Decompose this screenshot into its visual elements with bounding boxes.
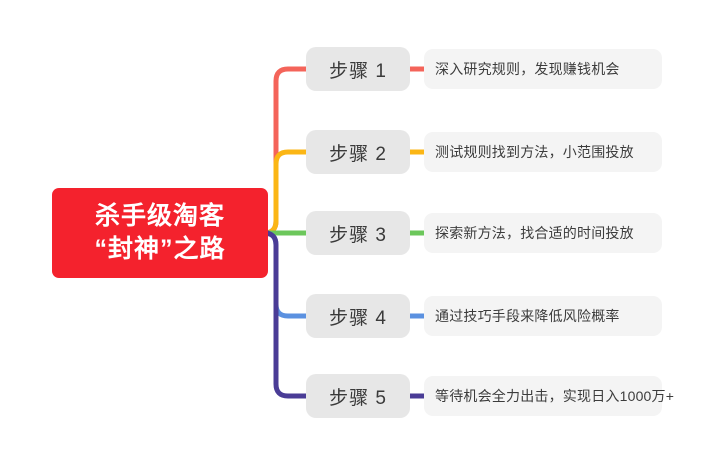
description-text: 等待机会全力出击，实现日入1000万+ <box>435 386 674 406</box>
mindmap-canvas: 杀手级淘客 “封神”之路 步骤 1深入研究规则，发现赚钱机会步骤 2测试规则找到… <box>0 0 721 470</box>
description-panel-4[interactable]: 通过技巧手段来降低风险概率 <box>424 296 662 336</box>
root-title-line-1: 杀手级淘客 <box>95 200 225 233</box>
step-chip-5[interactable]: 步骤 5 <box>306 374 410 418</box>
branch-row: 步骤 5 <box>306 374 410 418</box>
step-chip-2[interactable]: 步骤 2 <box>306 130 410 174</box>
step-chip-4[interactable]: 步骤 4 <box>306 294 410 338</box>
step-chip-3[interactable]: 步骤 3 <box>306 211 410 255</box>
description-text: 通过技巧手段来降低风险概率 <box>435 306 620 326</box>
step-chip-label: 步骤 5 <box>329 383 387 410</box>
description-panel-1[interactable]: 深入研究规则，发现赚钱机会 <box>424 49 662 89</box>
root-node[interactable]: 杀手级淘客 “封神”之路 <box>52 188 268 278</box>
description-text: 测试规则找到方法，小范围投放 <box>435 142 634 162</box>
connector-root-to-step-4 <box>264 233 306 316</box>
branch-row: 步骤 2 <box>306 130 410 174</box>
step-chip-label: 步骤 1 <box>329 56 387 83</box>
description-panel-2[interactable]: 测试规则找到方法，小范围投放 <box>424 132 662 172</box>
step-chip-1[interactable]: 步骤 1 <box>306 47 410 91</box>
step-chip-label: 步骤 2 <box>329 139 387 166</box>
root-title-line-2: “封神”之路 <box>94 233 225 266</box>
description-panel-3[interactable]: 探索新方法，找合适的时间投放 <box>424 213 662 253</box>
branch-row: 步骤 4 <box>306 294 410 338</box>
step-chip-label: 步骤 4 <box>329 303 387 330</box>
branch-row: 步骤 1 <box>306 47 410 91</box>
description-panel-5[interactable]: 等待机会全力出击，实现日入1000万+ <box>424 376 662 416</box>
connector-root-to-step-2 <box>264 152 306 233</box>
description-text: 深入研究规则，发现赚钱机会 <box>435 59 620 79</box>
branch-row: 步骤 3 <box>306 211 410 255</box>
connector-root-to-step-5 <box>264 233 306 396</box>
connector-root-to-step-1 <box>264 69 306 233</box>
step-chip-label: 步骤 3 <box>329 220 387 247</box>
description-text: 探索新方法，找合适的时间投放 <box>435 223 634 243</box>
